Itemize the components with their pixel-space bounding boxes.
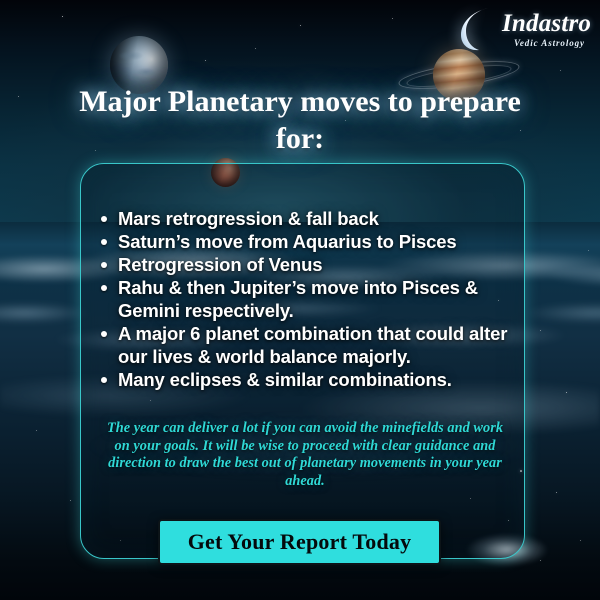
list-item: Rahu & then Jupiter’s move into Pisces &… [96,276,526,322]
list-item: Many eclipses & similar combinations. [96,368,526,391]
summary-paragraph: The year can deliver a lot if you can av… [100,420,510,490]
star-dot [566,392,567,393]
star-dot [580,540,581,541]
poster-canvas: Indastro Vedic Astrology Major Planetary… [0,0,600,600]
star-dot [36,430,37,431]
brand-tagline: Vedic Astrology [514,39,585,48]
star-dot [18,96,19,97]
crescent-moon-icon [458,6,498,52]
page-title: Major Planetary moves to prepare for: [60,84,540,157]
list-item: A major 6 planet combination that could … [96,322,526,368]
star-dot [62,16,63,17]
list-item: Saturn’s move from Aquarius to Pisces [96,230,526,253]
star-dot [205,60,206,61]
star-dot [300,25,301,26]
star-dot [588,250,589,251]
brand-name: Indastro [502,11,591,36]
star-dot [556,492,557,493]
get-report-button[interactable]: Get Your Report Today [158,519,441,565]
star-dot [392,18,393,19]
star-dot [255,48,256,49]
planetary-moves-list: Mars retrogression & fall back Saturn’s … [96,207,526,391]
brand-logo-text: Indastro Vedic Astrology [502,11,591,48]
star-dot [540,330,541,331]
star-dot [540,560,541,561]
brand-logo[interactable]: Indastro Vedic Astrology [458,6,591,52]
star-dot [70,500,71,501]
list-item: Retrogression of Venus [96,253,526,276]
list-item: Mars retrogression & fall back [96,207,526,230]
star-dot [560,70,561,71]
